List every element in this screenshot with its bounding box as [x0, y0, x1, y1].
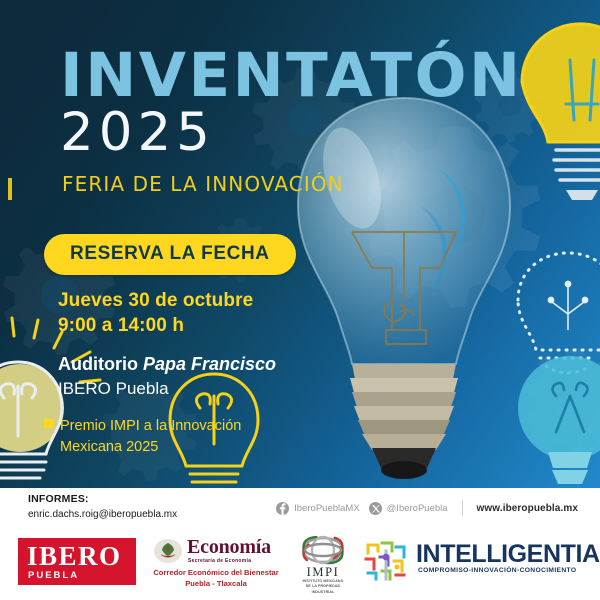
venue-line1: Auditorio Papa Francisco — [58, 352, 276, 377]
award-text: Premio IMPI a la Innovación Mexicana 202… — [60, 416, 241, 457]
page-title: INVENTATÓN — [60, 48, 523, 104]
website-link[interactable]: www.iberopuebla.mx — [477, 503, 578, 514]
economia-wordmark: Economía — [187, 536, 271, 559]
intelligentia-wordmark: INTELLIGENTIA — [416, 540, 600, 569]
impi-sphere-icon — [298, 535, 348, 565]
economia-subtitle: Secretaría de Economía — [188, 558, 251, 564]
impi-wordmark: IMPI — [292, 565, 354, 580]
x-handle: @IberoPuebla — [387, 503, 448, 514]
impi-caption-line2: DE LA PROPIEDAD — [306, 584, 341, 588]
logo-ibero-puebla[interactable]: IBERO PUEBLA — [18, 538, 136, 585]
intelligentia-tagline: COMPROMISO-INNOVACIÓN-CONOCIMIENTO — [418, 567, 576, 574]
poster-footer: INFORMES: enric.dachs.roig@iberopuebla.m… — [0, 488, 600, 600]
contact-info: INFORMES: enric.dachs.roig@iberopuebla.m… — [28, 492, 177, 522]
economia-caption-line1: Corredor Económico del Bienestar — [153, 568, 278, 577]
footer-contact-row: INFORMES: enric.dachs.roig@iberopuebla.m… — [0, 488, 600, 532]
event-date: Jueves 30 de octubre 9:00 a 14:00 h — [58, 288, 253, 339]
bullet-square-icon — [44, 419, 53, 428]
award-line2: Mexicana 2025 — [60, 439, 158, 455]
informes-label: INFORMES: — [28, 493, 89, 505]
intelligentia-maze-icon — [362, 539, 410, 581]
event-date-line1: Jueves 30 de octubre — [58, 288, 253, 313]
social-links: IberoPueblaMX @IberoPuebla www.iberopueb… — [276, 500, 578, 516]
facebook-icon — [276, 502, 289, 515]
footer-divider — [462, 500, 463, 516]
reserve-date-button[interactable]: RESERVA LA FECHA — [44, 234, 296, 275]
venue-line2: IBERO Puebla — [58, 377, 276, 401]
poster-subtitle: FERIA DE LA INNOVACIÓN — [62, 172, 344, 196]
impi-caption-line1: INSTITUTO MEXICANO — [302, 579, 343, 583]
eagle-seal-icon — [152, 538, 184, 564]
contact-email[interactable]: enric.dachs.roig@iberopuebla.mx — [28, 509, 177, 520]
poster-root: INVENTATÓN 2025 FERIA DE LA INNOVACIÓN R… — [0, 0, 600, 600]
award-note: Premio IMPI a la Innovación Mexicana 202… — [44, 416, 241, 457]
economia-caption: Corredor Económico del Bienestar Puebla … — [152, 567, 280, 589]
venue-name: Papa Francisco — [143, 354, 276, 374]
award-line1: Premio IMPI a la Innovación — [60, 418, 241, 434]
poster-artwork: INVENTATÓN 2025 FERIA DE LA INNOVACIÓN R… — [0, 0, 600, 488]
impi-caption-line3: INDUSTRIAL — [312, 590, 335, 594]
social-facebook[interactable]: IberoPueblaMX — [276, 502, 359, 515]
ibero-wordmark: IBERO — [27, 541, 122, 572]
event-venue: Auditorio Papa Francisco IBERO Puebla — [58, 352, 276, 401]
social-x-twitter[interactable]: @IberoPuebla — [369, 502, 448, 515]
sponsor-logos: IBERO PUEBLA Economía Secretaría de Econ… — [0, 532, 600, 600]
logo-economia[interactable]: Economía Secretaría de Economía Corredor… — [152, 536, 280, 592]
logo-impi[interactable]: IMPI INSTITUTO MEXICANO DE LA PROPIEDAD … — [292, 535, 354, 593]
impi-caption: INSTITUTO MEXICANO DE LA PROPIEDAD INDUS… — [292, 579, 354, 595]
poster-year: 2025 — [60, 106, 215, 159]
poster-copy: INVENTATÓN 2025 FERIA DE LA INNOVACIÓN R… — [0, 0, 600, 488]
x-twitter-icon — [369, 502, 382, 515]
facebook-handle: IberoPueblaMX — [294, 503, 359, 514]
venue-prefix: Auditorio — [58, 354, 143, 374]
logo-intelligentia[interactable]: INTELLIGENTIA COMPROMISO-INNOVACIÓN-CONO… — [362, 538, 584, 588]
economia-caption-line2: Puebla - Tlaxcala — [185, 579, 247, 588]
ibero-campus: PUEBLA — [28, 570, 79, 581]
event-time-line: 9:00 a 14:00 h — [58, 313, 253, 338]
